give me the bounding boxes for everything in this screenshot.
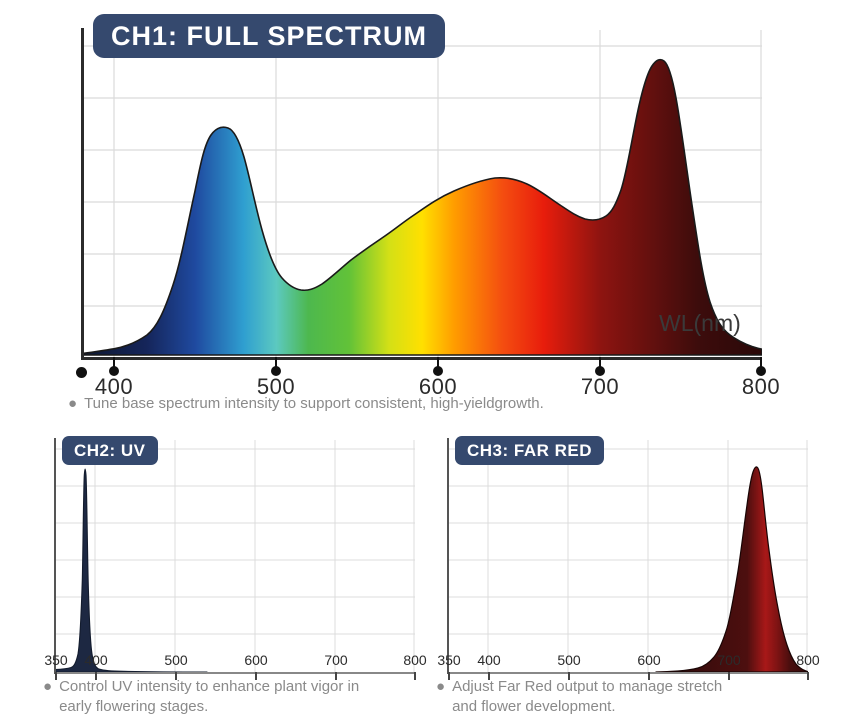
ch2-title-badge: CH2: UV (62, 436, 158, 465)
ch2-panel: 350 400 500 600 700 800 CH2: UV ● Contro… (0, 420, 432, 725)
ch1-panel: 400 500 600 700 800 WL(nm) CH1: FULL SPE… (0, 0, 864, 420)
ch2-uv-area (55, 469, 207, 672)
ch3-title-text: CH3: FAR RED (467, 441, 592, 461)
ch3-xtick-label-500: 500 (557, 652, 580, 668)
ch2-xtick-label-350: 350 (44, 652, 67, 668)
ch2-caption-bullet-icon: ● (43, 677, 52, 697)
ch2-caption-text: Control UV intensity to enhance plant vi… (59, 677, 359, 718)
ch3-caption: ● Adjust Far Red output to manage stretc… (436, 677, 836, 718)
ch1-y-axis (81, 28, 84, 360)
ch3-caption-text: Adjust Far Red output to manage stretch … (452, 677, 722, 718)
ch3-title-badge: CH3: FAR RED (455, 436, 604, 465)
ch2-xtick-label-600: 600 (244, 652, 267, 668)
ch3-xtick-label-350: 350 (437, 652, 460, 668)
ch2-plot (55, 440, 415, 672)
ch1-title-text: CH1: FULL SPECTRUM (111, 21, 427, 52)
ch1-x-axis (82, 357, 762, 360)
ch3-caption-bullet-icon: ● (436, 677, 445, 697)
ch2-xtick-label-400: 400 (84, 652, 107, 668)
ch3-chart-svg (448, 440, 808, 672)
ch1-caption: ● Tune base spectrum intensity to suppor… (68, 394, 668, 414)
ch3-panel: 350 400 500 600 700 800 CH3: FAR RED ● A… (432, 420, 864, 725)
ch1-axis-title: WL(nm) (659, 310, 741, 337)
ch2-xtick-label-500: 500 (164, 652, 187, 668)
ch1-y-axis-end-dot (76, 367, 87, 378)
ch1-title-badge: CH1: FULL SPECTRUM (93, 14, 445, 58)
ch1-chart-svg (82, 30, 762, 358)
ch3-xtick-label-600: 600 (637, 652, 660, 668)
ch2-y-axis (54, 438, 56, 674)
ch3-xtick-label-800: 800 (796, 652, 819, 668)
ch1-plot (82, 30, 762, 358)
ch1-xtick-label-800: 800 (742, 374, 780, 400)
ch3-xtick-label-400: 400 (477, 652, 500, 668)
ch2-chart-svg (55, 440, 415, 672)
ch2-caption: ● Control UV intensity to enhance plant … (43, 677, 423, 718)
ch2-title-text: CH2: UV (74, 441, 146, 461)
ch3-plot (448, 440, 808, 672)
ch3-y-axis (447, 438, 449, 674)
ch2-xtick-label-800: 800 (403, 652, 426, 668)
ch3-x-axis (448, 672, 808, 674)
ch2-xtick-label-700: 700 (324, 652, 347, 668)
ch2-x-axis (55, 672, 415, 674)
ch3-far-red-area (656, 467, 808, 672)
ch2-gridlines-vertical (95, 440, 414, 672)
ch2-gridlines-horizontal (55, 449, 415, 634)
ch1-caption-text: Tune base spectrum intensity to support … (84, 394, 544, 414)
ch1-caption-bullet-icon: ● (68, 394, 77, 414)
ch3-xtick-label-700: 700 (717, 652, 740, 668)
